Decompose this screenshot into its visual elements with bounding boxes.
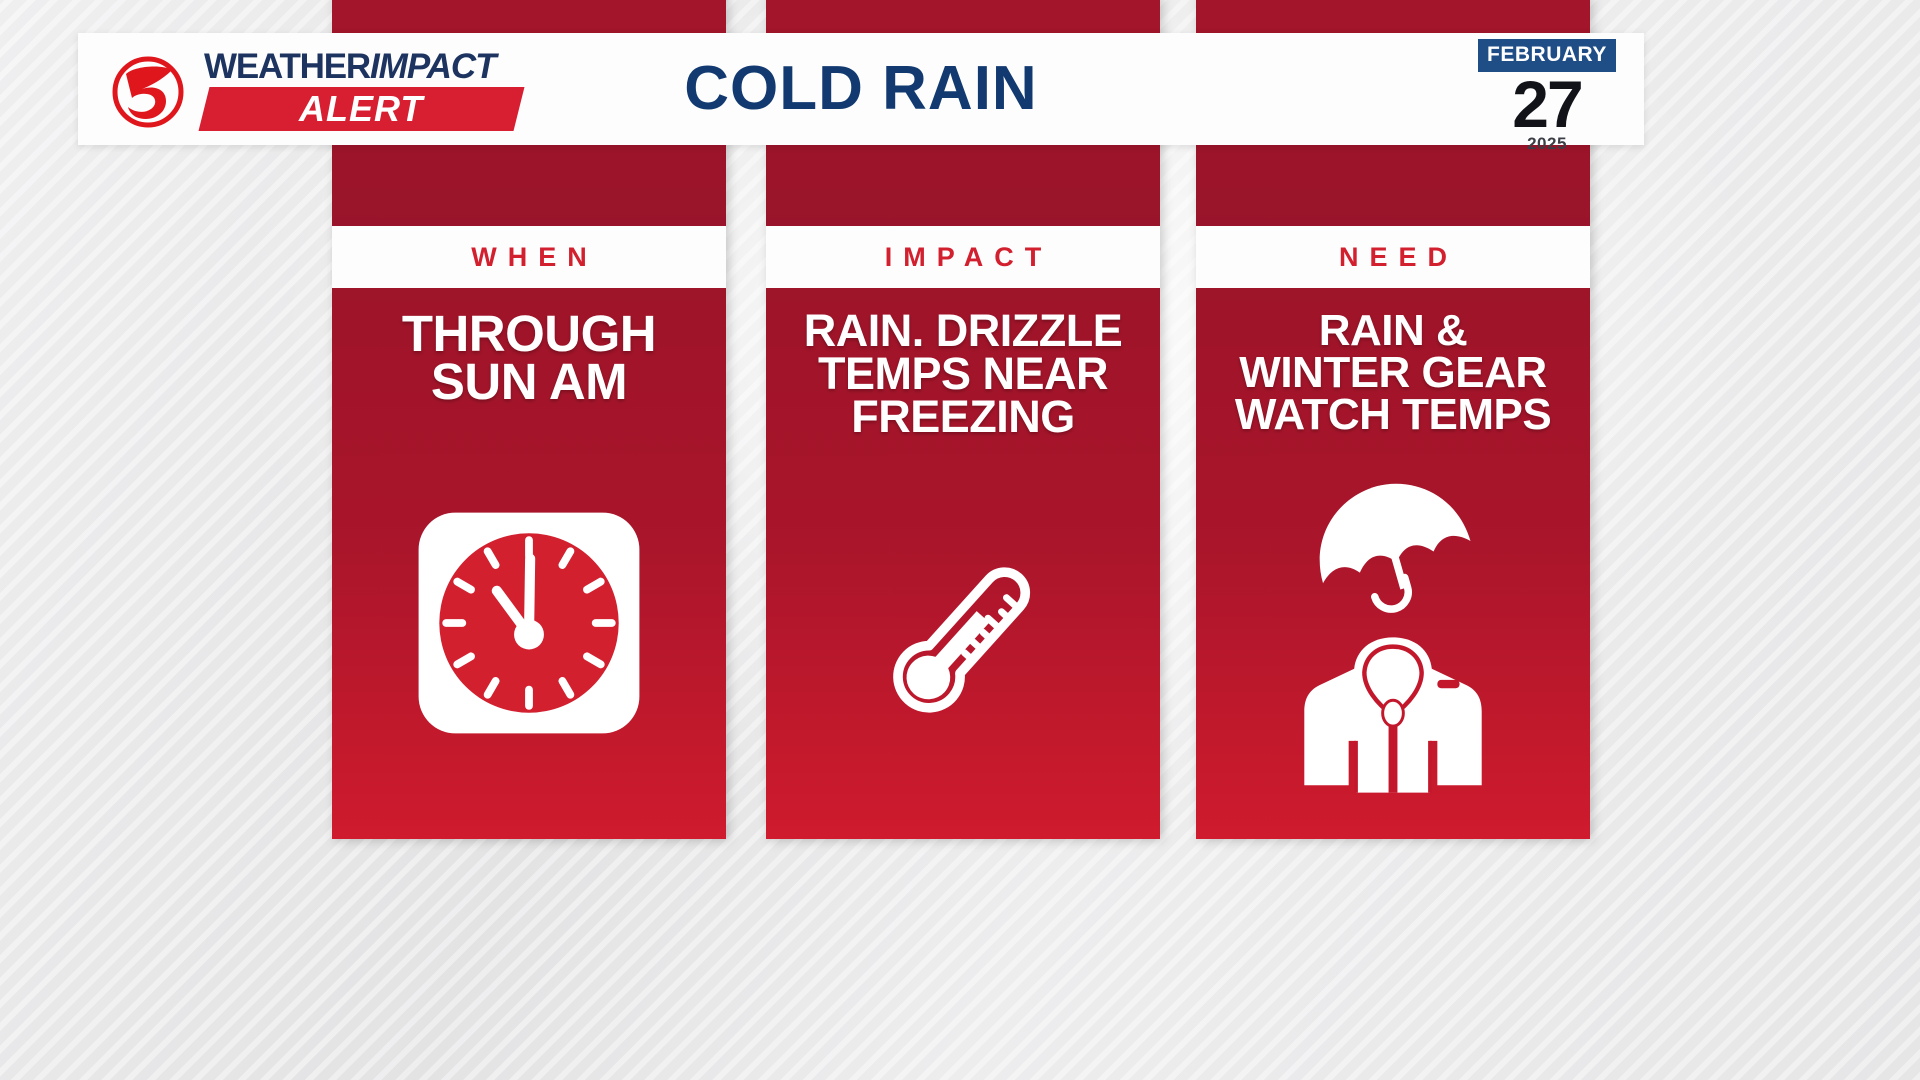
brand-word-weather: WEATHER <box>204 47 370 86</box>
headline-line: TEMPS NEAR <box>772 353 1154 396</box>
panel-label-need: NEED <box>1328 244 1458 271</box>
alert-banner: ALERT <box>199 87 525 131</box>
headline-line: RAIN & <box>1202 310 1584 352</box>
panel-headline-need: RAIN & WINTER GEAR WATCH TEMPS <box>1196 310 1590 435</box>
date-year: 2025 <box>1478 134 1616 154</box>
panel-label-strip-need: NEED <box>1196 226 1590 288</box>
panel-headline-impact: RAIN. DRIZZLE TEMPS NEAR FREEZING <box>766 310 1160 438</box>
panel-body-when: THROUGH SUN AM <box>332 288 726 839</box>
headline-line: FREEZING <box>772 396 1154 439</box>
umbrella-icon <box>1298 474 1488 624</box>
panel-label-strip-when: WHEN <box>332 226 726 288</box>
weather-graphic-stage: WHEN THROUGH SUN AM <box>0 0 1920 1080</box>
panel-icon-area-need <box>1196 435 1590 839</box>
date-day: 27 <box>1478 73 1616 136</box>
headline-line: RAIN. DRIZZLE <box>772 310 1154 353</box>
panel-label-strip-impact: IMPACT <box>766 226 1160 288</box>
panel-headline-when: THROUGH SUN AM <box>332 310 726 407</box>
page-title-text: COLD RAIN <box>684 58 1037 120</box>
panel-icon-area-when <box>332 407 726 839</box>
alert-banner-text: ALERT <box>299 91 423 127</box>
panel-label-when: WHEN <box>460 244 598 271</box>
clock-icon <box>414 508 644 738</box>
brand-lockup: WEATHERIMPACT ALERT <box>106 37 586 141</box>
brand-text: WEATHERIMPACT ALERT <box>204 49 534 131</box>
header-bar: COLD RAIN WEATHERIMPACT ALERT FEBRUARY 2… <box>78 33 1644 145</box>
headline-line: THROUGH <box>338 310 720 358</box>
channel-3-logo-icon <box>106 53 190 131</box>
thermometer-icon <box>848 524 1078 754</box>
headline-line: WINTER GEAR <box>1202 352 1584 394</box>
jacket-icon <box>1293 630 1493 800</box>
brand-line-weather-impact: WEATHERIMPACT <box>204 49 534 84</box>
panel-icon-area-impact <box>766 438 1160 839</box>
headline-line: SUN AM <box>338 358 720 406</box>
panel-label-impact: IMPACT <box>874 244 1053 271</box>
brand-word-impact: IMPACT <box>370 47 496 86</box>
headline-line: WATCH TEMPS <box>1202 394 1584 436</box>
date-badge: FEBRUARY 27 2025 <box>1478 39 1616 154</box>
panel-body-impact: RAIN. DRIZZLE TEMPS NEAR FREEZING <box>766 288 1160 839</box>
panel-body-need: RAIN & WINTER GEAR WATCH TEMPS <box>1196 288 1590 839</box>
